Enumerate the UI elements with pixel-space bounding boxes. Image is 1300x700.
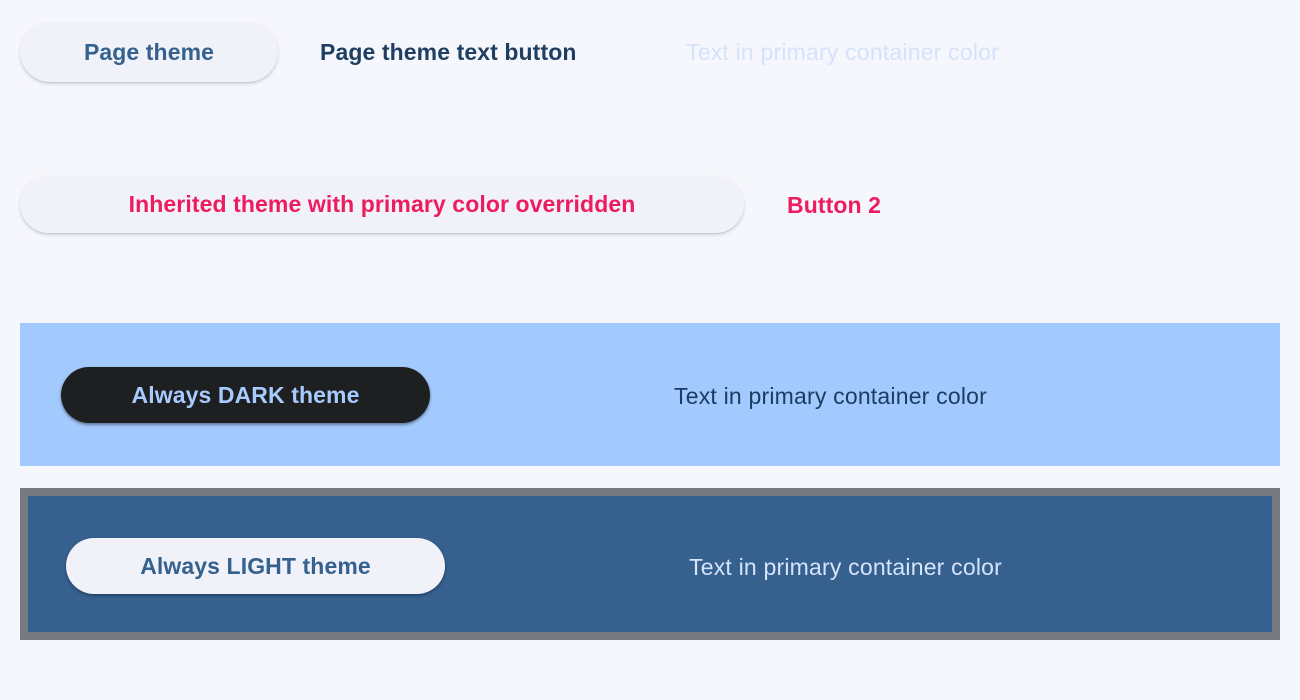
page-theme-primary-container-text: Text in primary container color [686,33,999,71]
dark-theme-container: Always DARK theme Text in primary contai… [20,323,1280,466]
always-dark-theme-button[interactable]: Always DARK theme [61,367,430,423]
theme-demo-page: Page theme Page theme text button Text i… [0,0,1300,700]
light-theme-container: Always LIGHT theme Text in primary conta… [28,496,1272,632]
page-theme-text-button[interactable]: Page theme text button [306,33,591,71]
light-theme-primary-container-text: Text in primary container color [689,551,1002,583]
light-theme-container-border: Always LIGHT theme Text in primary conta… [20,488,1280,640]
inherited-theme-filled-button[interactable]: Inherited theme with primary color overr… [20,176,744,233]
page-theme-filled-button[interactable]: Page theme [20,22,278,82]
inherited-theme-text-button[interactable]: Button 2 [773,186,895,224]
always-light-theme-button[interactable]: Always LIGHT theme [66,538,445,594]
dark-theme-primary-container-text: Text in primary container color [674,380,987,412]
